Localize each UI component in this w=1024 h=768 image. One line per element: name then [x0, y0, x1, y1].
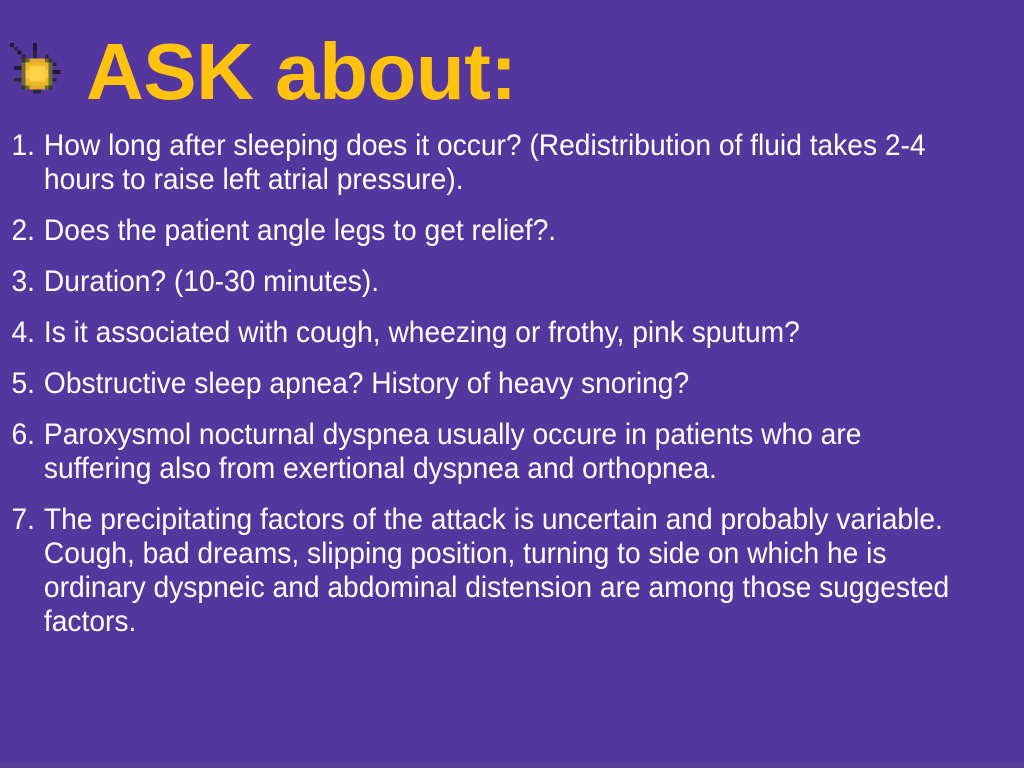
list-item-text: How long after sleeping does it occur? (…: [44, 129, 978, 197]
list-item-text: Duration? (10-30 minutes).: [44, 265, 978, 299]
list-item-text: The precipitating factors of the attack …: [44, 503, 978, 639]
list-item-number: 1.: [0, 129, 44, 163]
list-item-number: 2.: [0, 214, 44, 248]
list-item: 4. Is it associated with cough, wheezing…: [0, 316, 978, 350]
list-item: 7. The precipitating factors of the atta…: [0, 503, 978, 639]
ask-about-list: 1. How long after sleeping does it occur…: [0, 129, 1024, 656]
list-item-number: 6.: [0, 418, 44, 452]
list-item: 1. How long after sleeping does it occur…: [0, 129, 978, 197]
slide-canvas: ASK about: 1. How long after sleeping do…: [0, 0, 1024, 768]
list-item: 3. Duration? (10-30 minutes).: [0, 265, 978, 299]
list-item: 2. Does the patient angle legs to get re…: [0, 214, 978, 248]
list-item-number: 3.: [0, 265, 44, 299]
list-item-number: 4.: [0, 316, 44, 350]
bottom-band: [0, 763, 1024, 768]
list-item-text: Paroxysmol nocturnal dyspnea usually occ…: [44, 418, 978, 486]
bee-icon: [6, 39, 68, 101]
list-item-text: Is it associated with cough, wheezing or…: [44, 316, 978, 350]
list-item-text: Obstructive sleep apnea? History of heav…: [44, 367, 978, 401]
list-item-number: 7.: [0, 503, 44, 537]
list-item-text: Does the patient angle legs to get relie…: [44, 214, 978, 248]
list-item-number: 5.: [0, 367, 44, 401]
page-title: ASK about:: [86, 29, 517, 115]
slide-title-row: ASK about:: [0, 22, 1024, 118]
list-item: 5. Obstructive sleep apnea? History of h…: [0, 367, 978, 401]
list-item: 6. Paroxysmol nocturnal dyspnea usually …: [0, 418, 978, 486]
